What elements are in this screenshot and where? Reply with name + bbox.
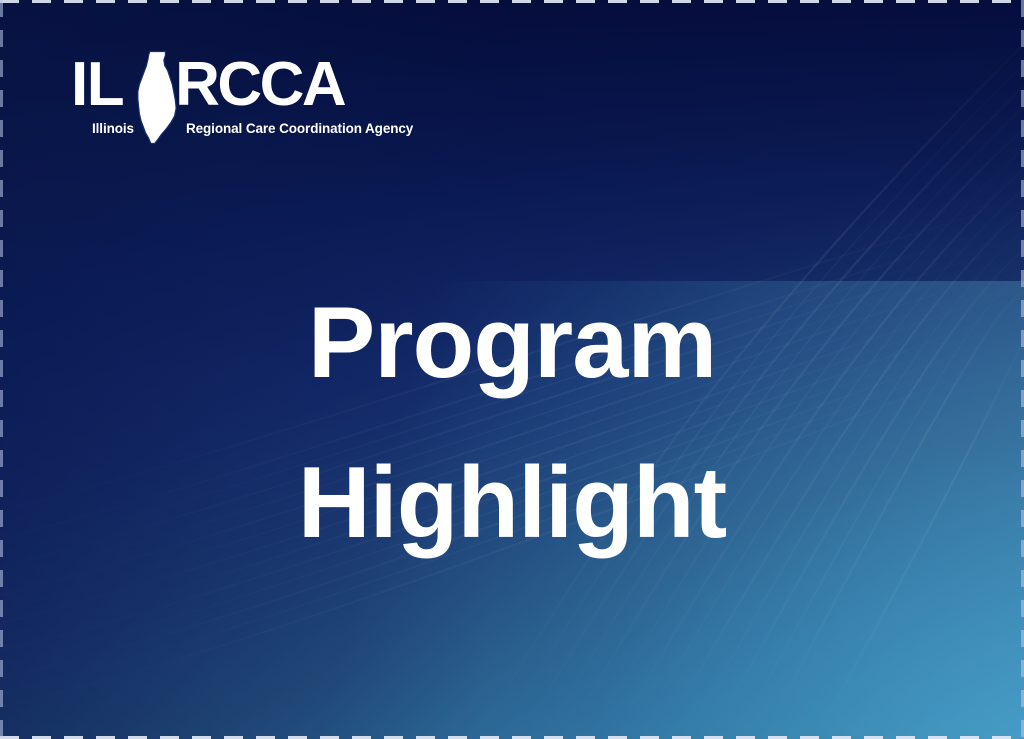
logo-word-rcca: RCCA <box>175 54 344 116</box>
logo-wordmark: IL RCCA <box>71 54 413 118</box>
logo-tagline-illinois: Illinois <box>92 121 134 137</box>
slide-title-line-2: Highlight <box>0 448 1024 558</box>
logo-tagline: Illinois Regional Care Coordination Agen… <box>71 121 413 137</box>
slide-canvas[interactable]: IL RCCA Illinois Regional Care Coordinat… <box>0 0 1024 739</box>
logo-word-il: IL <box>71 54 123 116</box>
slide-title-line-1: Program <box>0 288 1024 398</box>
ilrcca-logo[interactable]: IL RCCA Illinois Regional Care Coordinat… <box>71 54 413 137</box>
logo-tagline-rest: Regional Care Coordination Agency <box>186 121 413 137</box>
illinois-state-outline-icon <box>134 50 180 145</box>
slide-title[interactable]: Program Highlight <box>0 288 1024 558</box>
